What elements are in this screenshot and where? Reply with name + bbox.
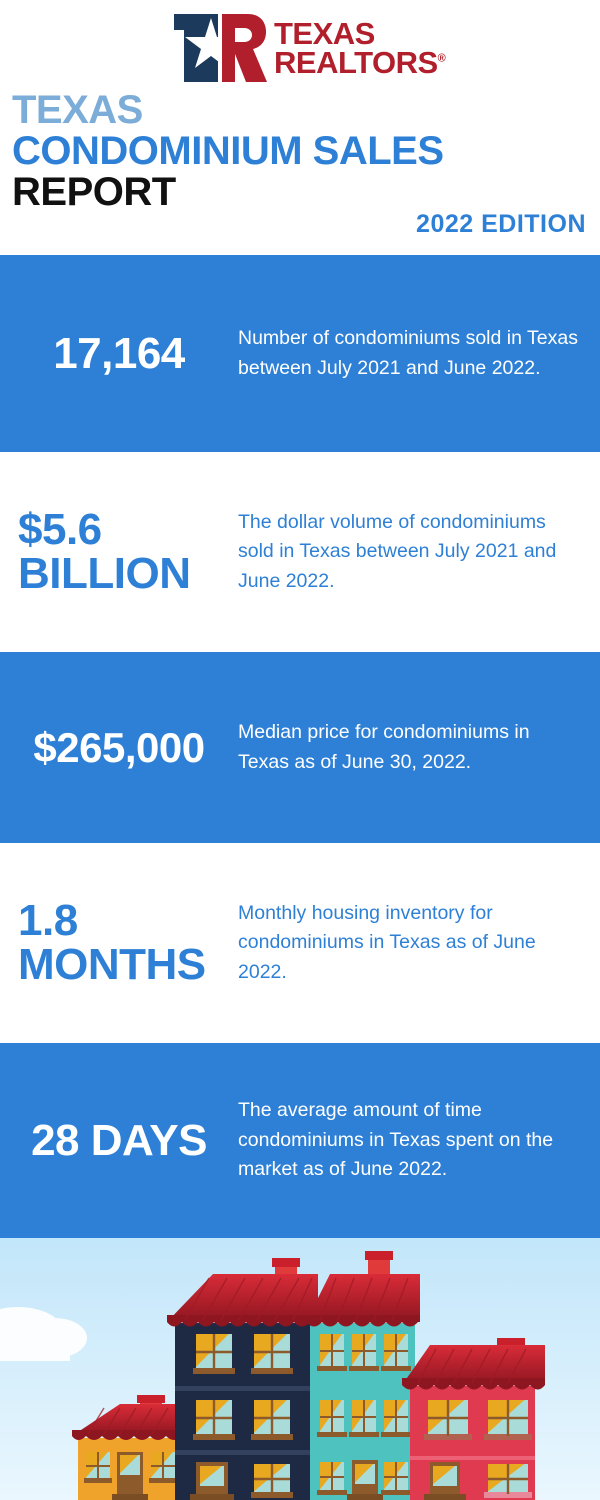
stat-description: Number of condominiums sold in Texas bet… <box>238 324 600 383</box>
window <box>424 1400 472 1440</box>
window <box>149 1452 177 1483</box>
stat-row-days-on-market: 28 DAYS The average amount of time condo… <box>0 1043 600 1238</box>
stat-figure: 28 DAYS <box>0 1119 238 1163</box>
infographic-page: TEXAS REALTORS® TEXAS CONDOMINIUM SALES … <box>0 0 600 1500</box>
houses-illustration-svg <box>0 1238 600 1500</box>
stat-figure-value: 17,164 <box>6 332 232 376</box>
stat-description: Monthly housing inventory for condominiu… <box>238 899 600 988</box>
logo-wordmark: TEXAS REALTORS® <box>274 19 445 78</box>
window <box>381 1334 411 1371</box>
house-teal <box>306 1251 420 1500</box>
title-line-report: REPORT <box>12 172 592 213</box>
window <box>251 1334 293 1374</box>
logo-line-realtors: REALTORS® <box>274 48 445 77</box>
texas-realtors-star-logo <box>172 8 268 88</box>
stat-figure-value: 28 DAYS <box>6 1119 232 1163</box>
window <box>317 1400 347 1437</box>
stat-figure-value: 1.8 <box>18 899 232 943</box>
texas-realtors-logo: TEXAS REALTORS® <box>172 8 440 88</box>
window <box>484 1464 532 1498</box>
window <box>317 1462 347 1495</box>
window <box>251 1464 293 1498</box>
window <box>84 1452 112 1483</box>
window <box>484 1400 532 1440</box>
stat-figure-unit: MONTHS <box>18 943 232 987</box>
stat-row-condos-sold: 17,164 Number of condominiums sold in Te… <box>0 255 600 452</box>
window <box>193 1334 235 1374</box>
stat-figure: $5.6 BILLION <box>0 508 238 596</box>
stat-row-dollar-volume: $5.6 BILLION The dollar volume of condom… <box>0 452 600 652</box>
stat-row-housing-inventory: 1.8 MONTHS Monthly housing inventory for… <box>0 843 600 1043</box>
stat-figure-unit: BILLION <box>18 552 232 596</box>
stat-row-median-price: $265,000 Median price for condominiums i… <box>0 652 600 843</box>
row-of-condominium-houses <box>0 1238 600 1500</box>
stat-description: The average amount of time condominiums … <box>238 1096 600 1185</box>
window <box>317 1334 347 1371</box>
stat-figure-value: $5.6 <box>18 508 232 552</box>
window <box>381 1462 411 1495</box>
stat-figure-value: $265,000 <box>6 727 232 769</box>
stat-figure: 17,164 <box>0 332 238 376</box>
window <box>251 1400 293 1440</box>
stat-description: The dollar volume of condominiums sold i… <box>238 508 600 597</box>
window <box>349 1400 379 1437</box>
window <box>349 1334 379 1371</box>
window <box>381 1400 411 1437</box>
stat-figure: 1.8 MONTHS <box>0 899 238 987</box>
title-line-condominium-sales: CONDOMINIUM SALES <box>12 131 592 172</box>
header: TEXAS REALTORS® TEXAS CONDOMINIUM SALES … <box>0 0 600 255</box>
stat-description: Median price for condominiums in Texas a… <box>238 718 600 777</box>
page-title: TEXAS CONDOMINIUM SALES REPORT <box>12 90 592 212</box>
registered-mark: ® <box>438 53 446 65</box>
title-line-texas: TEXAS <box>12 90 592 131</box>
house-red <box>402 1338 545 1500</box>
stat-figure: $265,000 <box>0 727 238 769</box>
logo-line-texas: TEXAS <box>274 19 445 48</box>
window <box>193 1400 235 1440</box>
edition-label: 2022 EDITION <box>416 210 586 239</box>
